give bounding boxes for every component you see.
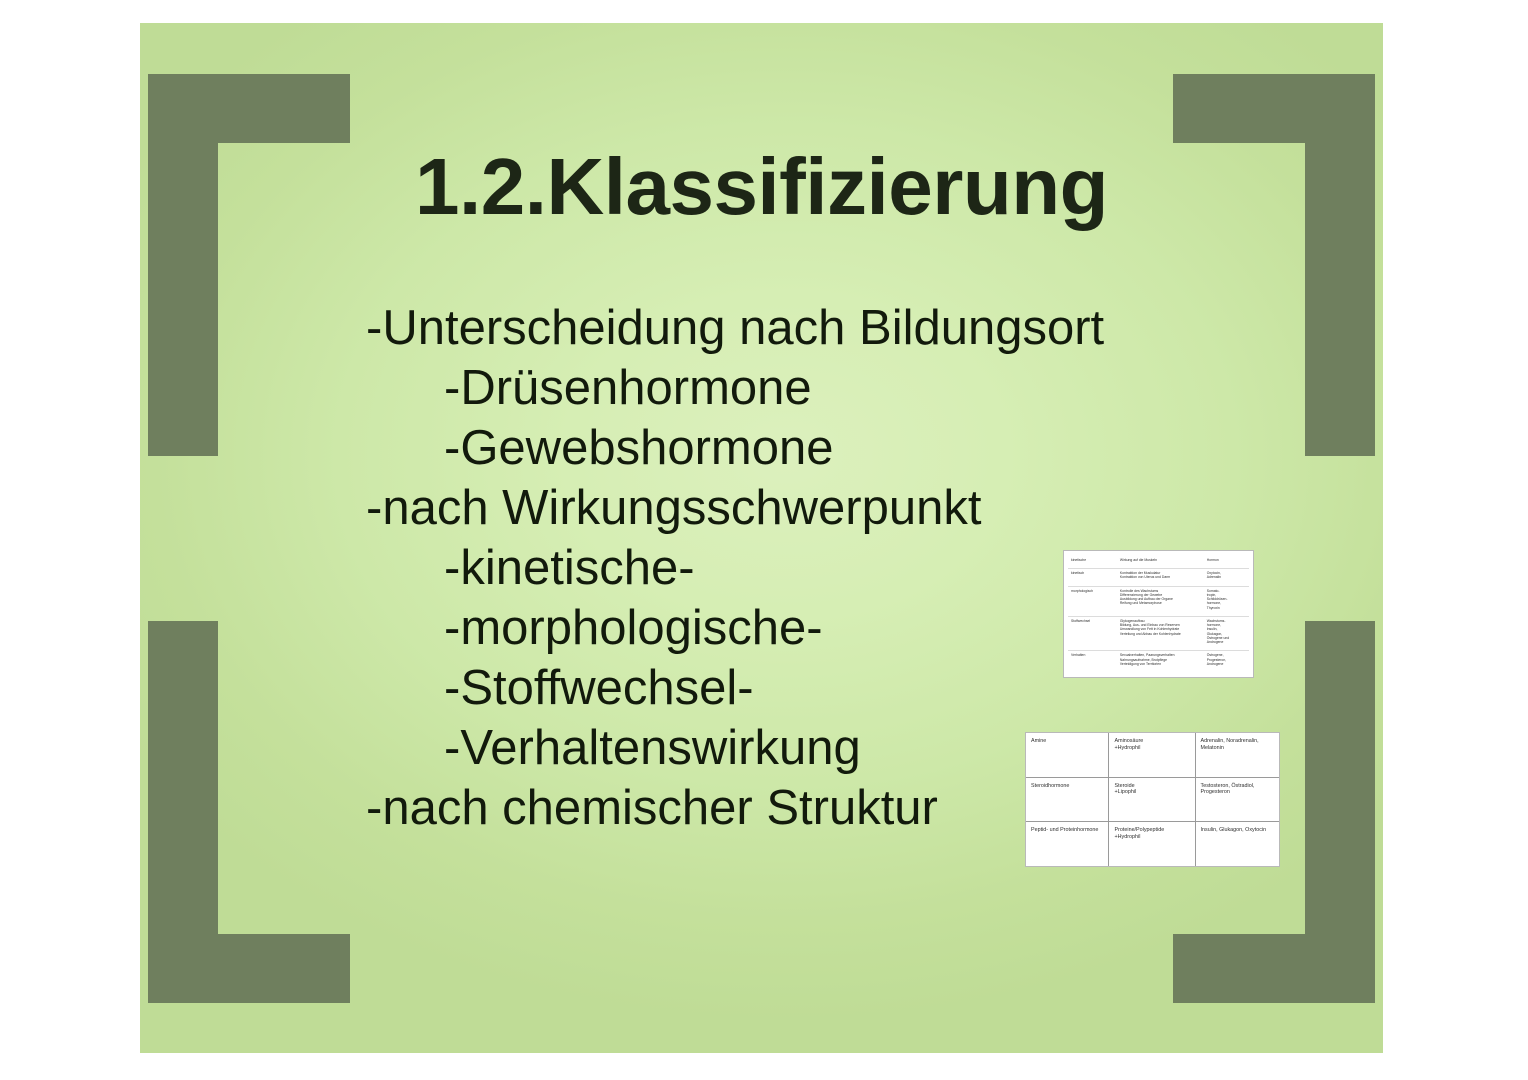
table-row: SteroidhormoneSteroide+LipophilTestoster… — [1026, 778, 1279, 823]
table-row: morphologischKontrolle des WachstumsDiff… — [1068, 587, 1249, 617]
corner-bracket-bottom-left-vertical — [148, 621, 218, 1003]
table-cell: Wachstums-hormone,Insulin,Glukagon,Östro… — [1204, 617, 1249, 650]
table-cell-chemistry: Aminosäure+Hydrophil — [1109, 733, 1195, 777]
table-cell: Hormon — [1204, 556, 1249, 568]
table-cell: Stoffwechsel — [1068, 617, 1117, 650]
body-line: -Drüsenhormone — [358, 358, 1218, 418]
table-cell: Östrogene,Progesteron,Androgene — [1204, 651, 1249, 672]
table-row: StoffwechselGlykogenaufbauBildung, Aus- … — [1068, 617, 1249, 651]
table-cell: Kontrolle des WachstumsDifferenzierung d… — [1117, 587, 1204, 616]
table-cell: morphologisch — [1068, 587, 1117, 616]
table-cell-chemistry-main: Steroide — [1114, 783, 1189, 790]
body-line: -Gewebshormone — [358, 418, 1218, 478]
table-cell: Verhalten — [1068, 651, 1117, 672]
table-cell-examples: Insulin, Glukagon, Oxytocin — [1196, 822, 1279, 866]
table-cell-chemistry-main: Aminosäure — [1114, 738, 1189, 745]
slide-title: 1.2.Klassifizierung — [140, 147, 1383, 227]
table-cell-chemistry: Steroide+Lipophil — [1109, 778, 1195, 822]
table-cell-hormone-class: Steroidhormone — [1026, 778, 1109, 822]
body-line: -nach Wirkungsschwerpunkt — [358, 478, 1218, 538]
table-cell-examples: Testosteron, Östradiol, Progesteron — [1196, 778, 1279, 822]
table-cell-chemistry-sub: +Hydrophil — [1114, 834, 1189, 841]
table-cell: Sexualverhalten, PaarungsverhaltenNahrun… — [1117, 651, 1204, 672]
table-cell: GlykogenaufbauBildung, Aus- und Einbau v… — [1117, 617, 1204, 650]
corner-bracket-top-left-vertical — [148, 74, 218, 456]
table-cell-chemistry: Proteine/Polypeptide+Hydrophil — [1109, 822, 1195, 866]
table-cell-hormone-class: Peptid- und Proteinhormone — [1026, 822, 1109, 866]
table-cell: Oxytocin,Adrenalin — [1204, 569, 1249, 585]
table-cell-chemistry-sub: +Hydrophil — [1114, 745, 1189, 752]
table-cell-hormone-class: Amine — [1026, 733, 1109, 777]
table-cell: kinetisch — [1068, 569, 1117, 585]
table-cell-chemistry-sub: +Lipophil — [1114, 789, 1189, 796]
table-cell: Kontraktion der MuskulaturKontraktion vo… — [1117, 569, 1204, 585]
table-cell: Wirkung auf die Muskeln — [1117, 556, 1204, 568]
inset-table-wirkungsschwerpunkt: kinetischeWirkung auf die MuskelnHormonk… — [1063, 550, 1254, 678]
presentation-slide: 1.2.Klassifizierung -Unterscheidung nach… — [140, 23, 1383, 1053]
table-cell-examples: Adrenalin, Noradrenalin, Melatonin — [1196, 733, 1279, 777]
table-row: kinetischKontraktion der MuskulaturKontr… — [1068, 569, 1249, 586]
table-row: AmineAminosäure+HydrophilAdrenalin, Nora… — [1026, 733, 1279, 778]
table-row: kinetischeWirkung auf die MuskelnHormon — [1068, 556, 1249, 569]
inset-table-chemische-struktur: AmineAminosäure+HydrophilAdrenalin, Nora… — [1025, 732, 1280, 867]
slide-canvas: 1.2.Klassifizierung -Unterscheidung nach… — [0, 0, 1528, 1080]
table-row: Peptid- und ProteinhormoneProteine/Polyp… — [1026, 822, 1279, 866]
table-cell: Somato-tropin,Schilddrüsen-hormone,Thyro… — [1204, 587, 1249, 616]
table-cell-chemistry-main: Proteine/Polypeptide — [1114, 827, 1189, 834]
corner-bracket-top-right-vertical — [1305, 74, 1375, 456]
corner-bracket-bottom-right-vertical — [1305, 621, 1375, 1003]
table-cell: kinetische — [1068, 556, 1117, 568]
table-row: VerhaltenSexualverhalten, Paarungsverhal… — [1068, 651, 1249, 672]
body-line: -Unterscheidung nach Bildungsort — [358, 298, 1218, 358]
